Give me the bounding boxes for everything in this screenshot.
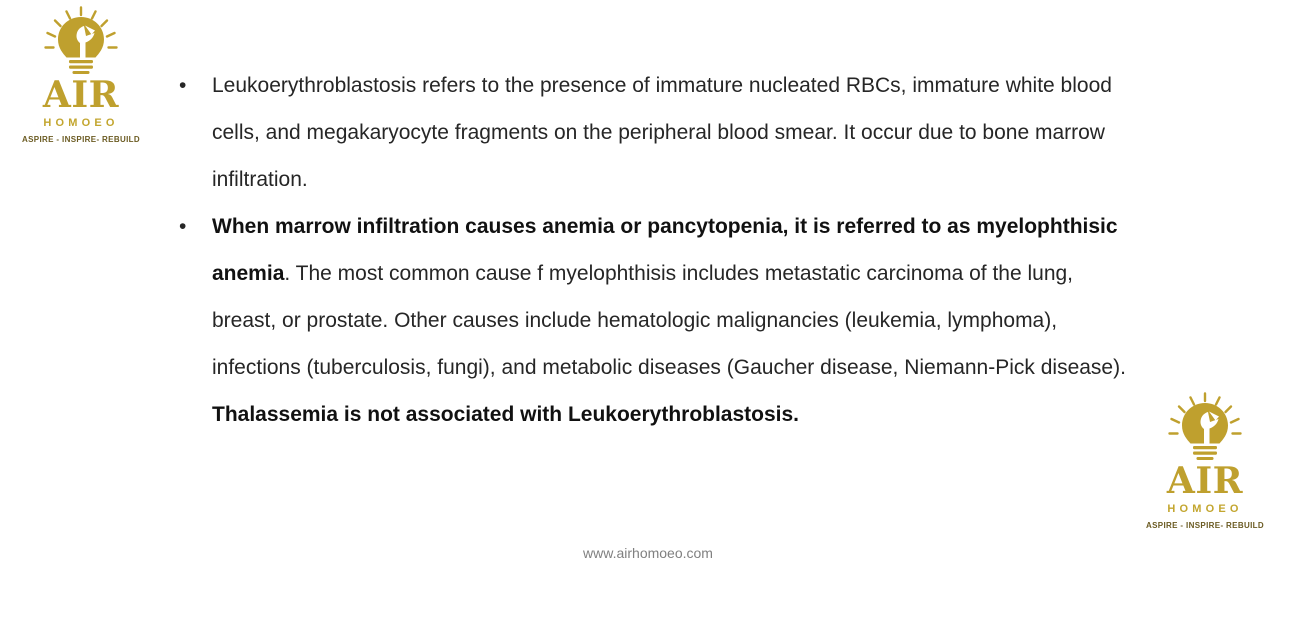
footer-website-url: www.airhomoeo.com: [0, 545, 1296, 561]
logo-wordmark: AIR: [1167, 463, 1243, 499]
list-item: • When marrow infiltration causes anemia…: [172, 203, 1127, 438]
logo-subtitle: HOMOEO: [1167, 504, 1242, 515]
lightbulb-logo-icon: [38, 6, 124, 79]
logo-wordmark: AIR: [43, 77, 119, 113]
text-run-bold: Thalassemia is not associated with Leuko…: [212, 403, 799, 426]
bullet-marker: •: [172, 62, 212, 109]
bullet-marker: •: [172, 203, 212, 250]
list-item: • Leukoerythroblastosis refers to the pr…: [172, 62, 1127, 203]
logo-tagline: ASPIRE - INSPIRE- REBUILD: [22, 136, 140, 144]
text-run: Leukoerythroblastosis refers to the pres…: [212, 74, 1112, 191]
text-run: . The most common cause f myelophthisis …: [212, 262, 1126, 379]
slide-content: • Leukoerythroblastosis refers to the pr…: [172, 62, 1127, 438]
bullet-text-leukoerythroblastosis: Leukoerythroblastosis refers to the pres…: [212, 62, 1127, 203]
logo-tagline: ASPIRE - INSPIRE- REBUILD: [1146, 522, 1264, 530]
bullet-text-myelophthisic-anemia: When marrow infiltration causes anemia o…: [212, 203, 1127, 438]
lightbulb-logo-icon: [1162, 392, 1248, 465]
logo-subtitle: HOMOEO: [43, 118, 118, 129]
brand-logo-primary: AIR HOMOEO ASPIRE - INSPIRE- REBUILD: [22, 6, 140, 144]
brand-logo-secondary: AIR HOMOEO ASPIRE - INSPIRE- REBUILD: [1146, 392, 1264, 530]
